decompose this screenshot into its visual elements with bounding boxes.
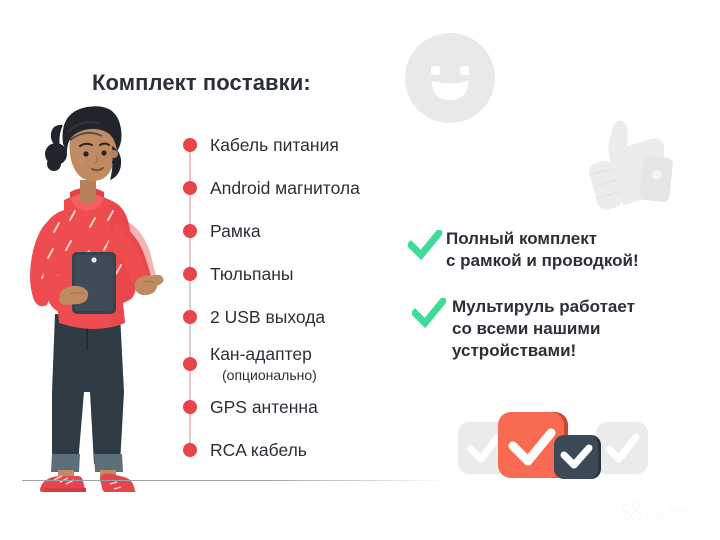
bullet-dot — [183, 443, 197, 457]
avito-watermark: Avito — [620, 500, 706, 524]
list-item-label: Рамка — [210, 223, 261, 241]
bullet-dot — [183, 400, 197, 414]
list-item-sublabel: (опционально) — [222, 368, 317, 382]
checkbox-card-navy — [554, 435, 601, 479]
package-contents-list: Кабель питания Android магнитола Рамка Т… — [178, 132, 408, 462]
check-icon — [408, 230, 442, 260]
list-item-label: Кан-адаптер — [210, 346, 312, 364]
feature-line-3: устройствами! — [452, 341, 576, 360]
feature-text: Мультируль работает со всеми нашими устр… — [452, 296, 635, 361]
list-item-label: GPS антенна — [210, 399, 318, 417]
feature-line-1: Полный комплект — [446, 229, 597, 248]
list-item-label: RCA кабель — [210, 442, 307, 460]
smiley-face-icon — [404, 32, 496, 124]
promo-image-canvas: Комплект поставки: Кабель питания Androi… — [0, 0, 720, 540]
bullet-dot — [183, 357, 197, 371]
woman-pointing-illustration — [8, 92, 188, 492]
page-title: Комплект поставки: — [92, 70, 311, 96]
list-item-label: 2 USB выхода — [210, 309, 325, 327]
feature-line-2: с рамкой и проводкой! — [446, 251, 639, 270]
bullet-dot — [183, 310, 197, 324]
feature-line-2: со всеми нашими — [452, 319, 600, 338]
list-item-label: Тюльпаны — [210, 266, 293, 284]
avito-wordmark: Avito — [646, 503, 690, 523]
thumbs-up-icon — [574, 112, 684, 216]
check-icon — [412, 298, 446, 328]
bullet-dot — [183, 138, 197, 152]
bullet-dot — [183, 267, 197, 281]
bullet-dot — [183, 224, 197, 238]
feature-text: Полный комплект с рамкой и проводкой! — [446, 228, 639, 272]
checkbox-card-gray-right — [596, 422, 648, 474]
bullet-dot — [183, 181, 197, 195]
checkbox-cards-decoration — [458, 404, 648, 484]
list-item-label: Кабель питания — [210, 137, 339, 155]
feature-line-1: Мультируль работает — [452, 297, 635, 316]
list-item-label: Android магнитола — [210, 180, 360, 198]
ground-line — [22, 480, 452, 481]
